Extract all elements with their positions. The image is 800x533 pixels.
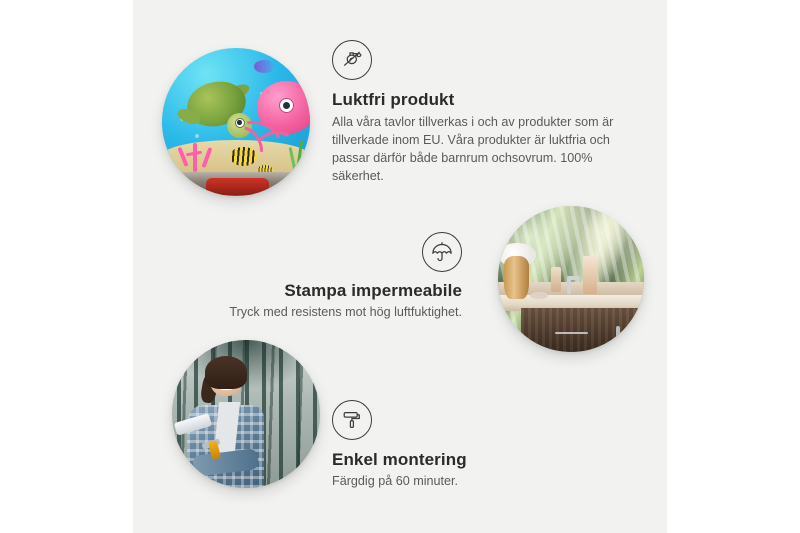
feature-block-odourless: Luktfri produkt Alla våra tavlor tillver… [332, 40, 622, 186]
paint-roller-icon [332, 400, 372, 440]
feature-title: Enkel montering [332, 449, 582, 470]
feature-block-easy: Enkel montering Färgdig på 60 minuter. [332, 400, 582, 491]
forest-canopy-shape [172, 340, 320, 390]
faucet-shape [567, 276, 571, 294]
feature-body: Alla våra tavlor tillverkas i och av pro… [332, 114, 622, 186]
feature-block-waterproof: Stampa impermeabile Tryck med resistens … [222, 232, 462, 322]
woman-with-paint-roller-photo [172, 340, 320, 488]
feature-body: Färgdig på 60 minuter. [332, 473, 582, 491]
vanity-cabinet-shape [521, 308, 644, 352]
screenshot-canvas: Luktfri produkt Alla våra tavlor tillver… [0, 0, 800, 533]
vase-shape [504, 256, 529, 300]
red-sofa-shape [206, 178, 268, 194]
umbrella-icon [422, 232, 462, 272]
icon-wrapper [222, 232, 462, 280]
yellow-fish-shape [230, 147, 257, 166]
no-fragrance-icon [332, 40, 372, 80]
hair-shape [205, 356, 248, 389]
bottle-shape [551, 267, 561, 292]
feature-body: Tryck med resistens mot hög luftfuktighe… [222, 304, 462, 322]
bottle-shape [583, 256, 598, 294]
drawer-handle-shape [555, 332, 588, 334]
octopus-eye-shape [279, 98, 294, 113]
door-handle-shape [616, 326, 620, 344]
coral-shape [174, 134, 218, 172]
underwater-kids-mural-photo [162, 48, 310, 196]
feature-title: Stampa impermeabile [222, 280, 462, 301]
feature-title: Luktfri produkt [332, 89, 622, 110]
bathroom-tropical-wallpaper-photo [498, 206, 644, 352]
